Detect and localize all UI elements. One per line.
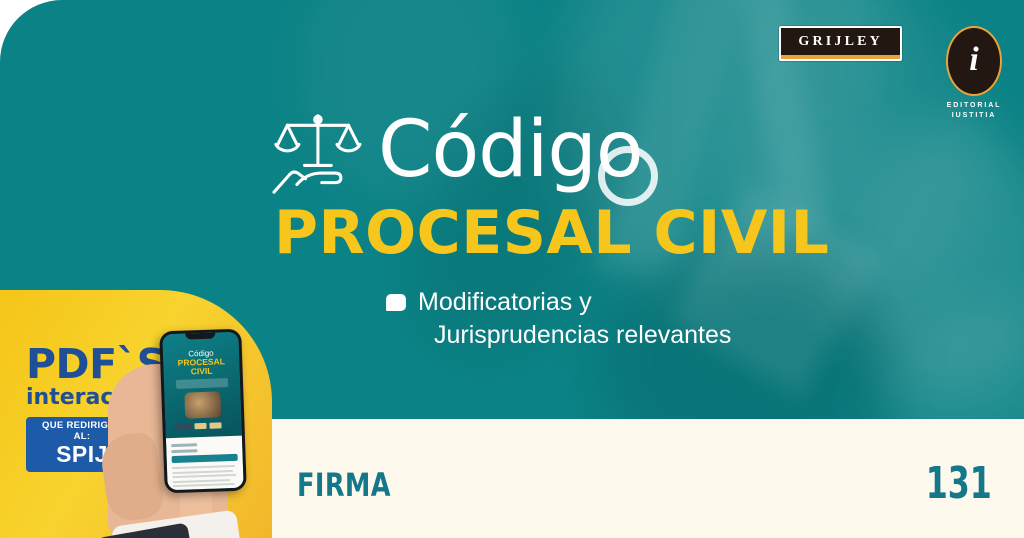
tagline-line-2: Jurisprudencias relevantes	[434, 319, 731, 352]
phone-preview-heading-2	[171, 449, 197, 453]
grijley-gold-bar	[781, 55, 900, 59]
iustitia-i-glyph: i	[969, 43, 978, 77]
scales-of-justice-icon	[268, 110, 364, 196]
phone-preview-tagline-bar	[176, 378, 228, 389]
tagline-line-1: Modificatorias y	[418, 288, 592, 316]
title-row: Código	[268, 104, 908, 196]
phone-preview-highlight-bar	[172, 454, 238, 463]
phone-preview-body	[166, 436, 244, 491]
grijley-logo[interactable]: GRIJLEY	[779, 26, 902, 61]
hand-holding-phone: Código PROCESAL CIVIL	[108, 330, 268, 538]
phone-screen: Código PROCESAL CIVIL	[162, 332, 243, 491]
footer-label: FIRMA	[297, 466, 391, 504]
phone-preview-photo	[184, 391, 221, 418]
phone-preview-hero: Código PROCESAL CIVIL	[162, 332, 242, 439]
tagline-bullet-icon	[386, 294, 406, 311]
phone-preview-heading	[171, 443, 197, 447]
iustitia-caption-line2: IUSTITIA	[947, 111, 1002, 121]
iustitia-logo[interactable]: i EDITORIAL IUSTITIA	[946, 26, 1002, 121]
tagline-text: Modificatorias y Jurisprudencias relevan…	[418, 286, 731, 352]
page-number: 131	[926, 458, 992, 509]
phone-preview-chips	[175, 422, 221, 430]
phone-preview-subtitle-2: CIVIL	[163, 366, 239, 377]
iustitia-oval-mark: i	[946, 26, 1002, 96]
iustitia-caption: EDITORIAL IUSTITIA	[947, 101, 1002, 121]
phone-mockup[interactable]: Código PROCESAL CIVIL	[159, 329, 247, 494]
iustitia-caption-line1: EDITORIAL	[947, 101, 1002, 111]
phone-notch	[185, 333, 215, 340]
headline-block: Código PROCESAL CIVIL Modificatorias y J…	[268, 104, 908, 352]
grijley-logo-text: GRIJLEY	[798, 35, 883, 49]
cover-canvas: GRIJLEY i EDITORIAL IUSTITIA	[0, 0, 1024, 538]
cover-subtitle: PROCESAL CIVIL	[274, 202, 908, 266]
tagline-block: Modificatorias y Jurisprudencias relevan…	[386, 286, 908, 352]
cover-title: Código	[378, 113, 643, 188]
